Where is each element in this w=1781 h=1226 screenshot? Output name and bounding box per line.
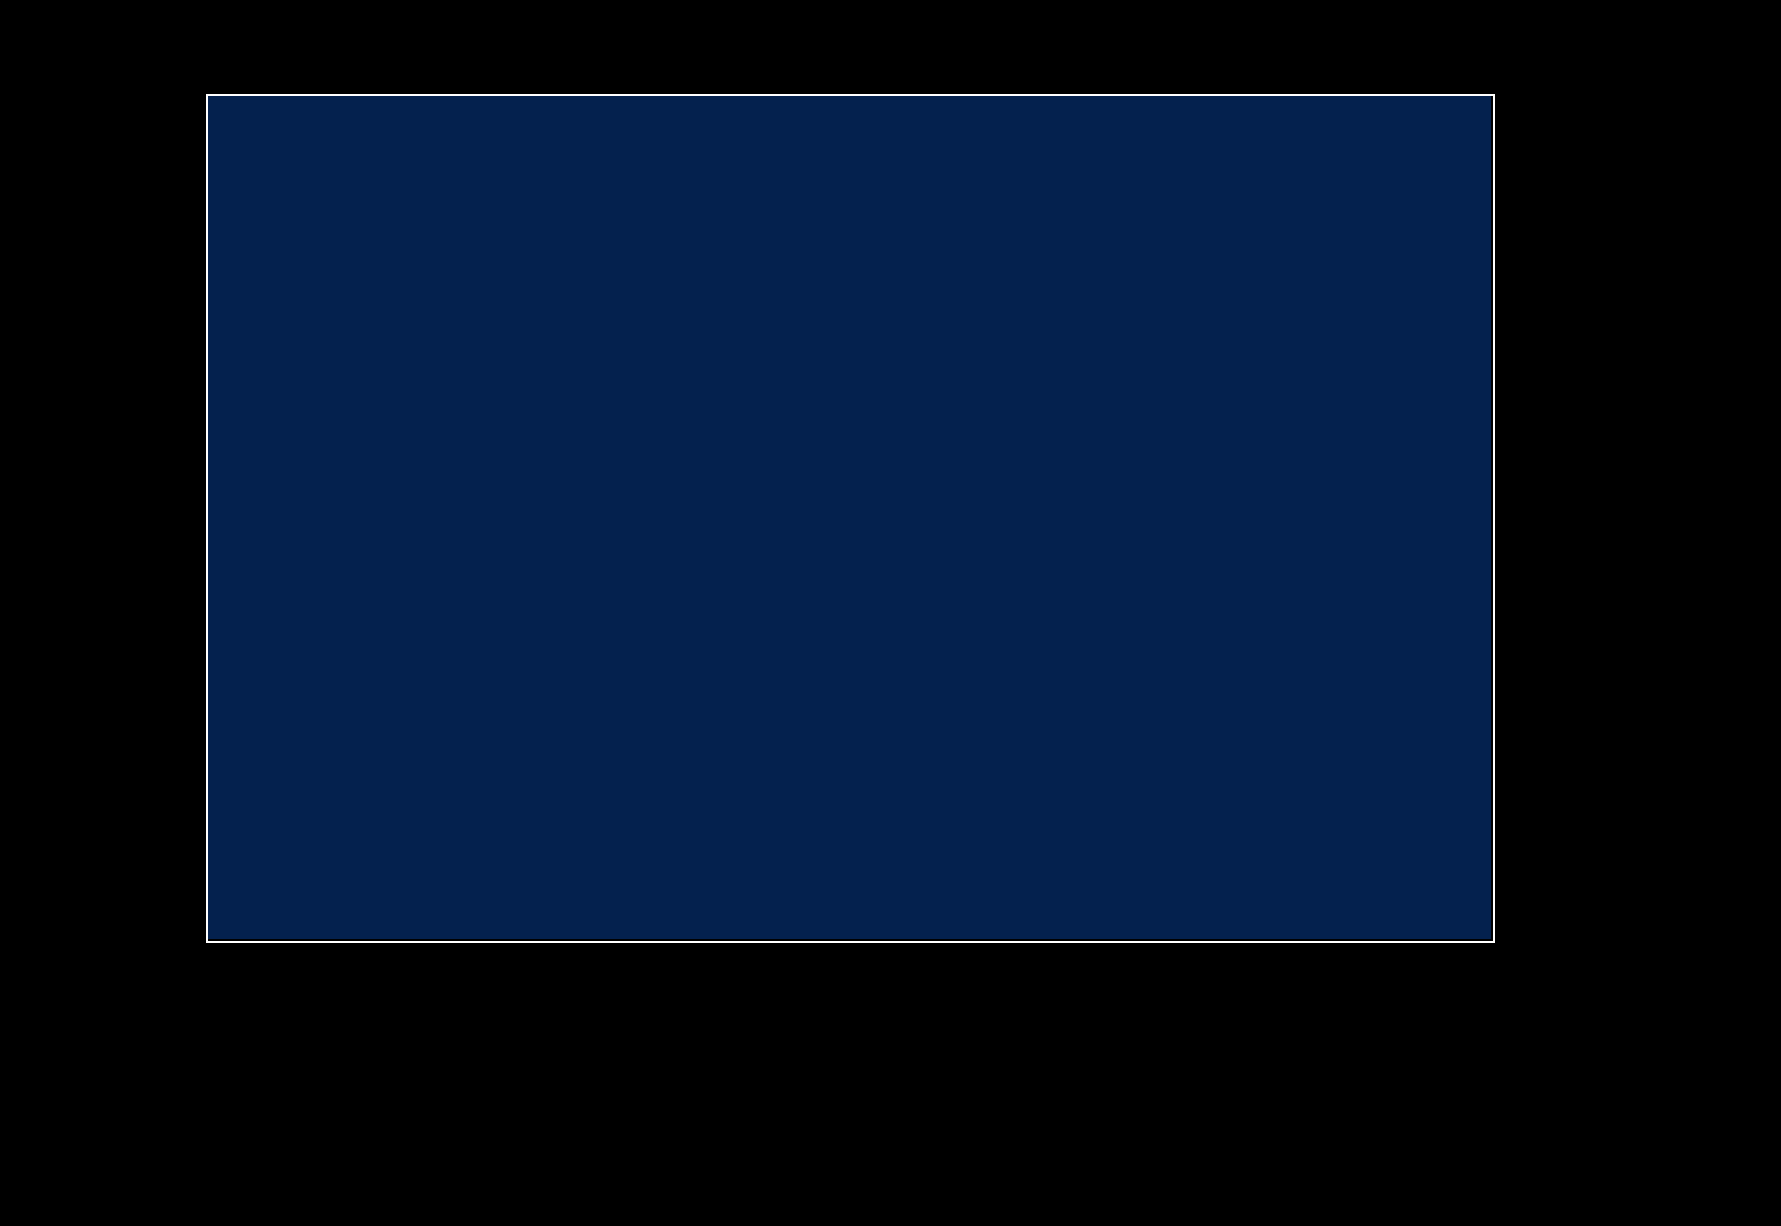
spectrogram-plot[interactable] <box>206 94 1491 939</box>
eu-stars-icon <box>200 1140 300 1196</box>
royal-observatory-logo <box>200 1140 314 1196</box>
figure-canvas <box>0 0 1781 1226</box>
spectrogram-image <box>206 94 1491 939</box>
